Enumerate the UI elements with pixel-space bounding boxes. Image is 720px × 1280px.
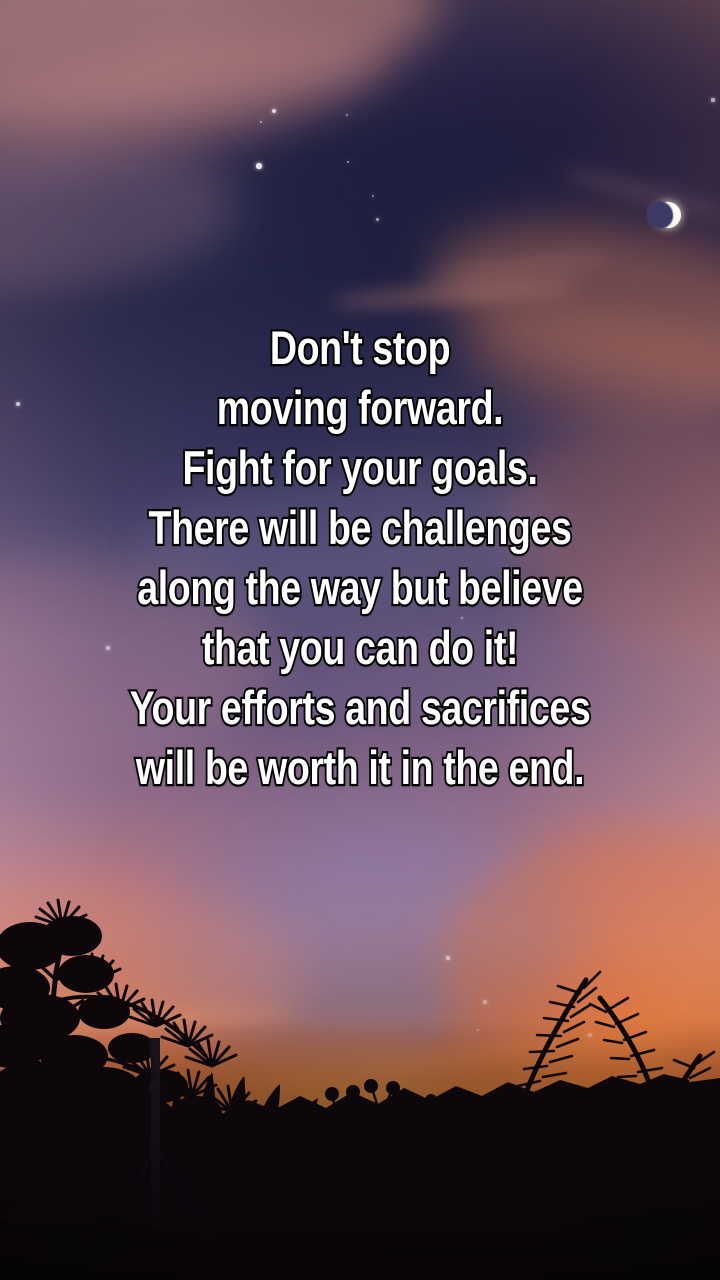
star-7 — [376, 218, 379, 221]
quote-line-7: Your efforts and sacrifices — [80, 678, 640, 738]
quote-line-3: Fight for your goals. — [80, 438, 640, 498]
wallpaper-canvas: Don't stop moving forward. Fight for you… — [0, 0, 720, 1280]
quote-line-2: moving forward. — [80, 378, 640, 438]
quote-line-6: that you can do it! — [80, 618, 640, 678]
quote-text-block: Don't stop moving forward. Fight for you… — [0, 318, 720, 798]
quote-line-8: will be worth it in the end. — [80, 738, 640, 798]
star-3 — [256, 163, 261, 168]
quote-line-1: Don't stop — [80, 318, 640, 378]
star-8 — [711, 98, 714, 101]
star-1 — [272, 109, 276, 113]
foreground-silhouette — [0, 860, 720, 1280]
quote-line-5: along the way but believe — [80, 558, 640, 618]
quote-line-4: There will be challenges — [80, 498, 640, 558]
